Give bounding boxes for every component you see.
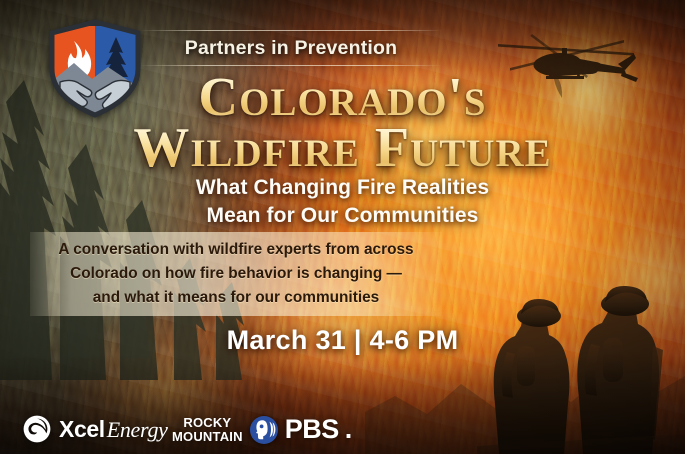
title-line-2: Wildfire Future <box>0 121 685 175</box>
subtitle-line-1: What Changing Fire Realities <box>0 174 685 202</box>
pbs-head-icon <box>249 415 279 445</box>
description-line-1: A conversation with wildfire experts fro… <box>30 238 442 262</box>
xcel-word-energy: Energy <box>107 417 168 443</box>
xcel-word-xcel: Xcel <box>59 416 105 443</box>
page-title: Colorado's Wildfire Future <box>0 70 685 176</box>
xcel-wordmark: Xcel Energy <box>59 416 168 443</box>
subtitle: What Changing Fire Realities Mean for Ou… <box>0 174 685 229</box>
xcel-swirl-icon <box>22 414 52 444</box>
subtitle-line-2: Mean for Our Communities <box>0 202 685 230</box>
title-line-1: Colorado's <box>0 70 685 123</box>
description-line-2: Colorado on how fire behavior is changin… <box>30 262 442 286</box>
pbs-wordmark: PBS <box>285 414 339 445</box>
sponsor-footer: Xcel Energy ROCKY MOUNTAIN <box>0 404 685 454</box>
xcel-energy-logo[interactable]: Xcel Energy <box>22 414 168 444</box>
dateline-text: March 31 | 4-6 PM <box>227 325 459 355</box>
event-dateline: March 31 | 4-6 PM <box>0 325 685 356</box>
rocky-mountain-pbs-logo[interactable]: ROCKY MOUNTAIN PBS . <box>172 414 352 445</box>
eyebrow-text: Partners in Prevention <box>185 37 397 60</box>
pbs-period: . <box>345 414 353 445</box>
wildfire-event-poster: Partners in Prevention Colorado's Wildfi… <box>0 0 685 454</box>
mountain-text: MOUNTAIN <box>172 430 243 443</box>
rocky-mountain-wordmark: ROCKY MOUNTAIN <box>172 416 243 443</box>
eyebrow-band: Partners in Prevention <box>140 30 442 66</box>
poster-content: Partners in Prevention Colorado's Wildfi… <box>0 0 685 454</box>
description-text: A conversation with wildfire experts fro… <box>30 238 442 310</box>
description-line-3: and what it means for our communities <box>30 286 442 310</box>
rocky-text: ROCKY <box>183 416 231 429</box>
